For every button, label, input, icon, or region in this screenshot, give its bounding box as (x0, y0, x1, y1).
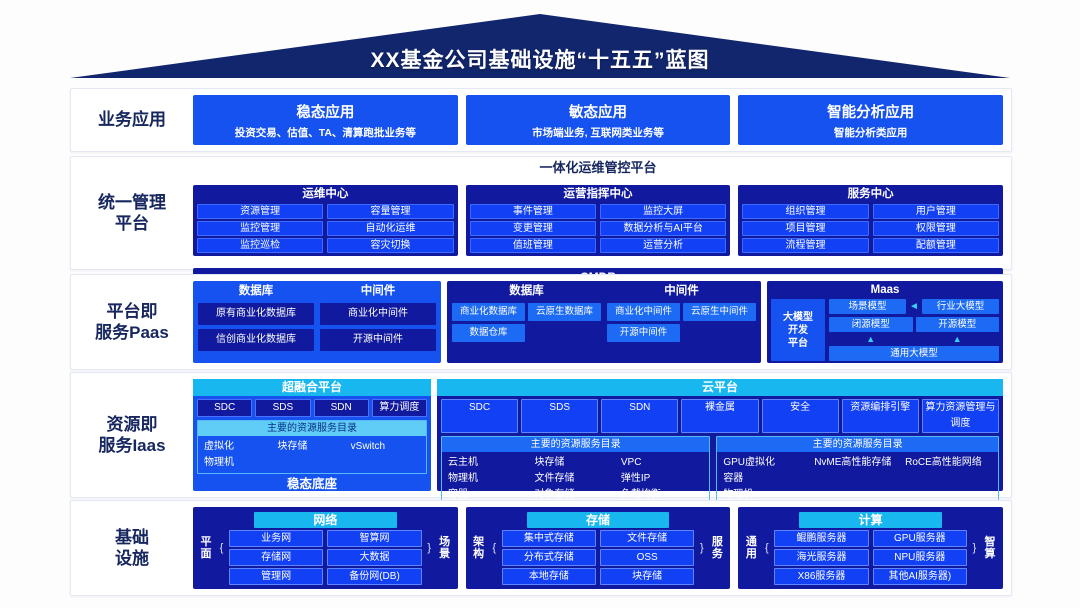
app-card-title: 稳态应用 (296, 101, 354, 122)
app-card-title: 智能分析应用 (827, 101, 914, 122)
paas-item[interactable]: 原有商业化数据库 (198, 303, 314, 325)
maas-dev-line3: 平台 (783, 337, 813, 350)
center-item[interactable]: 流程管理 (742, 238, 868, 253)
row-business-application: 业务应用 稳态应用 投资交易、估值、TA、清算跑批业务等 敏态应用 市场端业务,… (70, 88, 1012, 152)
paas-item[interactable]: 数据仓库 (452, 324, 525, 342)
maas-closed-source-model[interactable]: 闭源模型 (829, 317, 913, 332)
paas-legacy-database: 数据库 原有商业化数据库 信创商业化数据库 (198, 284, 314, 358)
storage-left-label: 架构 (471, 536, 487, 560)
app-card-intelligent-analysis[interactable]: 智能分析应用 智能分析类应用 (738, 95, 1003, 145)
catalog-item: 容器 (723, 471, 810, 486)
infra-network-block: 平面 { 网络 业务网 智算网 存储网 大数据 管理网 备份网(DB) } 场景 (193, 507, 458, 589)
brace-left-icon: { (217, 542, 226, 554)
center-item[interactable]: 用户管理 (873, 204, 999, 219)
compute-item[interactable]: 鲲鹏服务器 (774, 530, 868, 547)
row-infrastructure: 基础 设施 平面 { 网络 业务网 智算网 存储网 大数据 管理网 备份网(DB… (70, 500, 1012, 596)
brace-left-icon: { (762, 542, 771, 554)
catalog-item: GPU虚拟化 (723, 455, 810, 470)
maas-scenario-model[interactable]: 场景模型 (829, 299, 906, 314)
compute-left-label: 通用 (743, 536, 759, 560)
paas-column-title: 中间件 (607, 284, 756, 299)
catalog-item: 文件存储 (534, 471, 616, 486)
catalog-item: RoCE高性能网络 (905, 455, 992, 470)
row-label-line1: 资源即 (98, 414, 165, 435)
network-item[interactable]: 大数据 (327, 549, 421, 566)
infra-storage-block: 架构 { 存储 集中式存储 文件存储 分布式存储 OSS 本地存储 块存储 } … (466, 507, 731, 589)
center-service[interactable]: 服务中心 组织管理 用户管理 项目管理 权限管理 流程管理 配额管理 (738, 185, 1003, 256)
row-label-infrastructure: 基础 设施 (71, 501, 193, 595)
center-item[interactable]: 容量管理 (327, 204, 453, 219)
app-card-agile[interactable]: 敏态应用 市场端业务, 互联网类业务等 (466, 95, 731, 145)
storage-item[interactable]: 块存储 (600, 568, 694, 585)
storage-item[interactable]: 分布式存储 (502, 549, 596, 566)
center-item[interactable]: 值班管理 (470, 238, 596, 253)
brace-left-icon: { (490, 542, 499, 554)
compute-item[interactable]: 其他AI服务器) (873, 568, 967, 585)
storage-item[interactable]: OSS (600, 549, 694, 566)
paas-legacy-middleware: 中间件 商业化中间件 开源中间件 (320, 284, 436, 358)
cloud-platform-header: 云平台 (437, 379, 1003, 396)
paas-cloud-block: 数据库 商业化数据库 云原生数据库 数据仓库 中间件 商业化中间件 云原生中间件… (447, 281, 761, 363)
network-item[interactable]: 业务网 (229, 530, 323, 547)
paas-item[interactable]: 开源中间件 (320, 329, 436, 351)
catalog-item: 物理机 (448, 471, 530, 486)
catalog-item: NvME高性能存储 (814, 455, 901, 470)
catalog-header: 主要的资源服务目录 (442, 437, 709, 452)
cloud-catalog-left: 主要的资源服务目录 云主机 块存储 VPC 物理机 文件存储 弹性IP 容器 对… (441, 436, 710, 506)
paas-column-title: 数据库 (452, 284, 601, 299)
row-label-iaas: 资源即 服务Iaas (71, 373, 193, 497)
center-item[interactable]: 数据分析与AI平台 (600, 221, 726, 236)
iaas-tag[interactable]: SDN (314, 399, 369, 417)
catalog-item: vSwitch (351, 439, 420, 454)
row-label-line2: 设施 (115, 548, 149, 569)
maas-block: Maas 大模型 开发 平台 场景模型 ◄ 行业大模型 (767, 281, 1003, 363)
paas-cloud-database: 数据库 商业化数据库 云原生数据库 数据仓库 (452, 284, 601, 358)
iaas-tag[interactable]: 安全 (762, 399, 839, 433)
compute-item[interactable]: NPU服务器 (873, 549, 967, 566)
paas-legacy-block: 数据库 原有商业化数据库 信创商业化数据库 中间件 商业化中间件 开源中间件 (193, 281, 441, 363)
paas-item[interactable]: 商业化中间件 (607, 303, 680, 321)
storage-item[interactable]: 集中式存储 (502, 530, 596, 547)
center-item[interactable]: 监控大屏 (600, 204, 726, 219)
page-title: XX基金公司基础设施“十五五”蓝图 (70, 44, 1010, 74)
iaas-cloud-platform-block: 云平台 SDC SDS SDN 裸金属 安全 资源编排引擎 算力资源管理与调度 … (437, 379, 1003, 491)
catalog-item: 块存储 (534, 455, 616, 470)
app-card-subtitle: 市场端业务, 互联网类业务等 (532, 125, 664, 140)
center-item[interactable]: 变更管理 (470, 221, 596, 236)
paas-item[interactable]: 商业化中间件 (320, 303, 436, 325)
catalog-item: 块存储 (277, 439, 346, 454)
compute-item[interactable]: GPU服务器 (873, 530, 967, 547)
row-label-management: 统一管理 平台 (71, 157, 193, 269)
storage-header: 存储 (527, 512, 670, 528)
catalog-item-empty (814, 471, 901, 486)
center-item[interactable]: 组织管理 (742, 204, 868, 219)
network-item[interactable]: 存储网 (229, 549, 323, 566)
paas-item[interactable]: 信创商业化数据库 (198, 329, 314, 351)
brace-right-icon: } (970, 542, 979, 554)
app-card-subtitle: 投资交易、估值、TA、清算跑批业务等 (235, 125, 416, 140)
maas-open-source-model[interactable]: 开源模型 (916, 317, 1000, 332)
app-card-title: 敏态应用 (569, 101, 627, 122)
brace-right-icon: } (697, 542, 706, 554)
iaas-tag[interactable]: 资源编排引擎 (842, 399, 919, 433)
catalog-item: VPC (621, 455, 703, 470)
catalog-header: 主要的资源服务目录 (198, 421, 426, 436)
paas-column-title: 数据库 (198, 284, 314, 299)
row-iaas: 资源即 服务Iaas 超融合平台 SDC SDS SDN 算力调度 主要的资源服… (70, 372, 1012, 498)
paas-item[interactable]: 开源中间件 (607, 324, 680, 342)
maas-industry-model[interactable]: 行业大模型 (922, 299, 999, 314)
brace-right-icon: } (425, 542, 434, 554)
center-title: 运维中心 (197, 187, 454, 202)
infra-compute-block: 通用 { 计算 鲲鹏服务器 GPU服务器 海光服务器 NPU服务器 X86服务器… (738, 507, 1003, 589)
row-label-line1: 基础 (115, 527, 149, 548)
row-label-line1: 平台即 (95, 301, 169, 322)
roof-banner: XX基金公司基础设施“十五五”蓝图 (70, 14, 1010, 80)
paas-item[interactable]: 云原生中间件 (683, 303, 756, 321)
paas-item[interactable]: 云原生数据库 (528, 303, 601, 321)
catalog-item-empty (905, 471, 992, 486)
catalog-header: 主要的资源服务目录 (717, 437, 998, 452)
iaas-tag[interactable]: SDC (197, 399, 252, 417)
platform-header: 一体化运维管控平台 (193, 160, 1003, 175)
iaas-tag[interactable]: SDC (441, 399, 518, 433)
arrow-up-icon: ▲ (953, 335, 962, 343)
app-card-subtitle: 智能分析类应用 (834, 125, 908, 140)
cloud-catalog-right: 主要的资源服务目录 GPU虚拟化 NvME高性能存储 RoCE高性能网络 容器 … (716, 436, 999, 506)
maas-general-model[interactable]: 通用大模型 (829, 346, 999, 361)
storage-item[interactable]: 本地存储 (502, 568, 596, 585)
catalog-item: 虚拟化 (204, 439, 273, 454)
iaas-tag[interactable]: SDN (601, 399, 678, 433)
paas-item[interactable]: 商业化数据库 (452, 303, 525, 321)
network-item[interactable]: 备份网(DB) (327, 568, 421, 585)
catalog-item: 物理机 (204, 455, 273, 470)
storage-right-label: 服务 (709, 536, 725, 560)
catalog-item: 弹性IP (621, 471, 703, 486)
paas-cloud-middleware: 中间件 商业化中间件 云原生中间件 开源中间件 (607, 284, 756, 358)
center-item[interactable]: 资源管理 (197, 204, 323, 219)
iaas-tag[interactable]: 裸金属 (681, 399, 758, 433)
maas-dev-line2: 开发 (783, 324, 813, 337)
iaas-tag[interactable]: 算力资源管理与调度 (922, 399, 999, 433)
row-label-line1: 统一管理 (98, 192, 166, 213)
center-item[interactable]: 容灾切换 (327, 238, 453, 253)
center-item[interactable]: 项目管理 (742, 221, 868, 236)
network-header: 网络 (254, 512, 397, 528)
center-operations-command[interactable]: 运营指挥中心 事件管理 监控大屏 变更管理 数据分析与AI平台 值班管理 运营分… (466, 185, 731, 256)
maas-dev-platform[interactable]: 大模型 开发 平台 (771, 299, 825, 361)
center-ops[interactable]: 运维中心 资源管理 容量管理 监控管理 自动化运维 监控巡检 容灾切换 (193, 185, 458, 256)
compute-right-label: 智算 (982, 536, 998, 560)
iaas-tag[interactable]: 算力调度 (372, 399, 427, 417)
network-item[interactable]: 智算网 (327, 530, 421, 547)
hyperconverged-header: 超融合平台 (193, 379, 431, 396)
row-label-business: 业务应用 (71, 89, 193, 151)
stable-base-footer: 稳态底座 (193, 474, 431, 494)
iaas-tag[interactable]: SDS (521, 399, 598, 433)
network-right-label: 场景 (437, 536, 453, 560)
center-item[interactable]: 自动化运维 (327, 221, 453, 236)
blueprint-diagram: XX基金公司基础设施“十五五”蓝图 业务应用 稳态应用 投资交易、估值、TA、清… (0, 0, 1080, 608)
center-item[interactable]: 配额管理 (873, 238, 999, 253)
arrow-left-icon: ◄ (909, 302, 919, 312)
iaas-tag[interactable]: SDS (255, 399, 310, 417)
paas-column-title: 中间件 (320, 284, 436, 299)
center-title: 运营指挥中心 (470, 187, 727, 202)
center-item[interactable]: 运营分析 (600, 238, 726, 253)
row-label-line2: 服务Paas (95, 322, 169, 343)
compute-header: 计算 (799, 512, 942, 528)
network-left-label: 平面 (198, 536, 214, 560)
center-title: 服务中心 (742, 187, 999, 202)
center-item[interactable]: 权限管理 (873, 221, 999, 236)
storage-item[interactable]: 文件存储 (600, 530, 694, 547)
network-item[interactable]: 管理网 (229, 568, 323, 585)
arrow-up-icon: ▲ (866, 335, 875, 343)
row-paas: 平台即 服务Paas 数据库 原有商业化数据库 信创商业化数据库 中间件 商业化… (70, 274, 1012, 370)
compute-item[interactable]: 海光服务器 (774, 549, 868, 566)
iaas-hyperconverged-block: 超融合平台 SDC SDS SDN 算力调度 主要的资源服务目录 虚拟化 块存储… (193, 379, 431, 491)
maas-dev-line1: 大模型 (783, 311, 813, 324)
row-label-paas: 平台即 服务Paas (71, 275, 193, 369)
compute-item[interactable]: X86服务器 (774, 568, 868, 585)
maas-title: Maas (771, 283, 999, 297)
app-card-stable[interactable]: 稳态应用 投资交易、估值、TA、清算跑批业务等 (193, 95, 458, 145)
row-unified-management: 统一管理 平台 一体化运维管控平台 运维中心 资源管理 容量管理 监控管理 自动… (70, 156, 1012, 270)
row-label-line2: 平台 (98, 213, 166, 234)
row-label-line2: 服务Iaas (98, 435, 165, 456)
center-item[interactable]: 监控巡检 (197, 238, 323, 253)
center-item[interactable]: 监控管理 (197, 221, 323, 236)
catalog-item: 云主机 (448, 455, 530, 470)
center-item[interactable]: 事件管理 (470, 204, 596, 219)
